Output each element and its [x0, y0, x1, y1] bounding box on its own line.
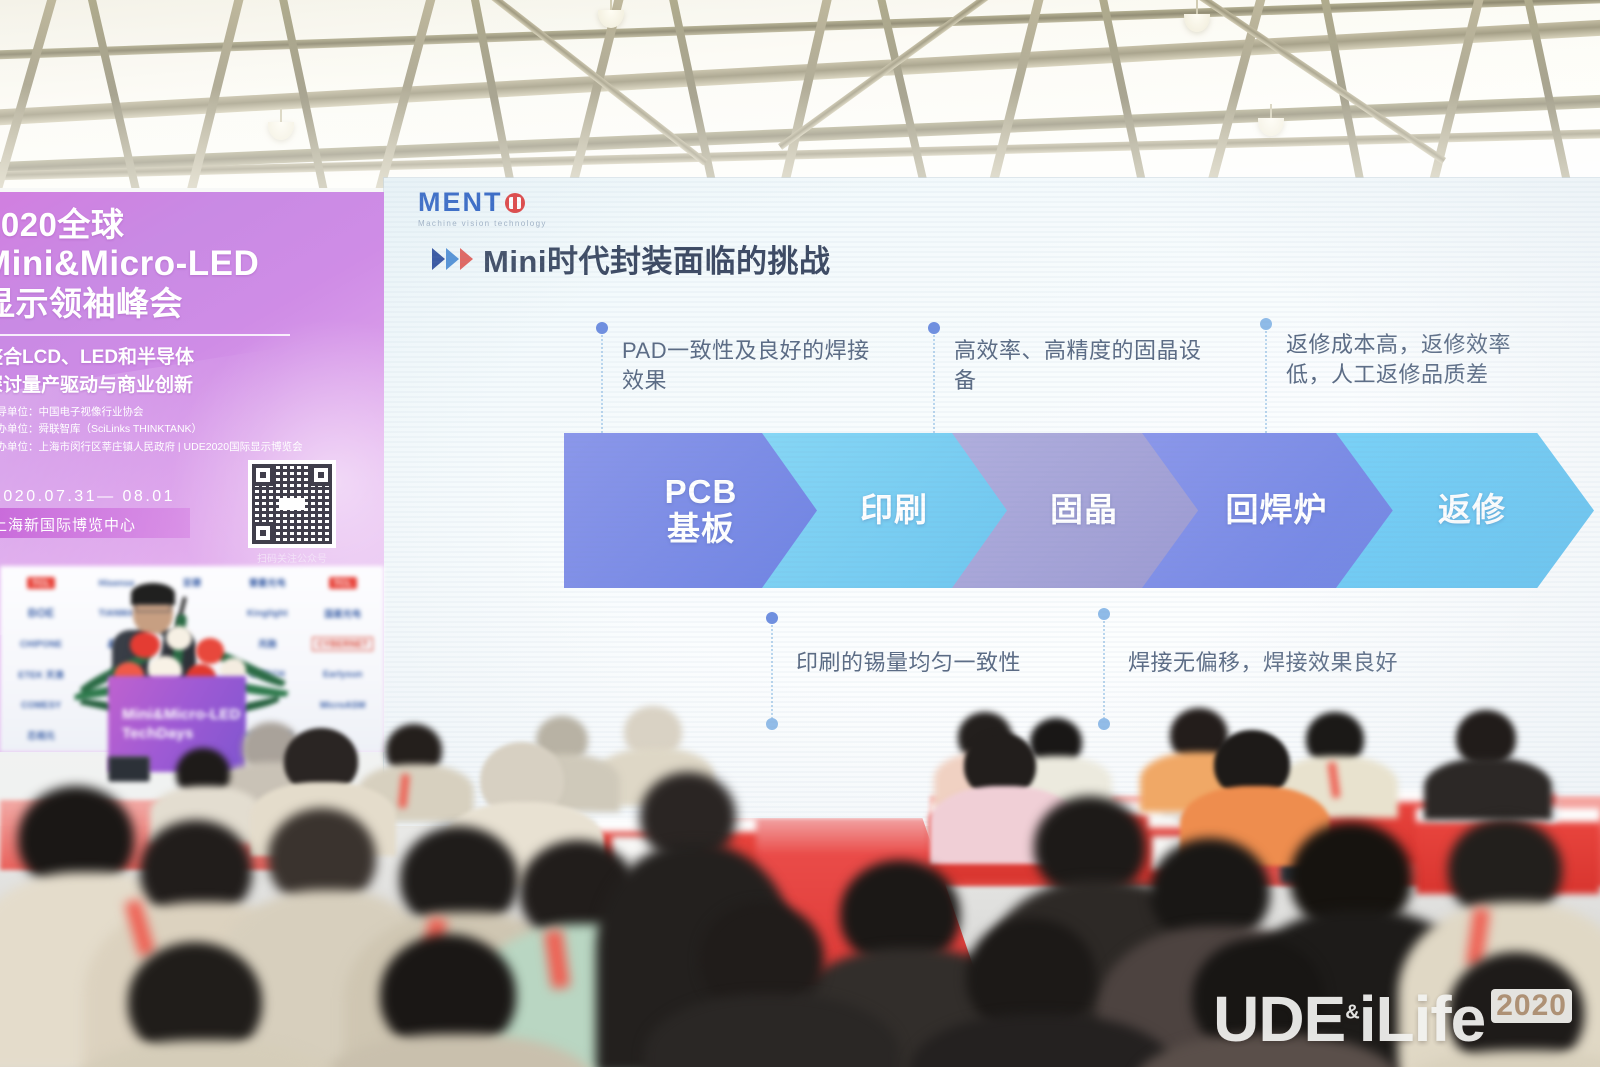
sponsor-logo: ETEK 天准 [4, 660, 78, 690]
banner-organizers: 指导单位：中国电子视像行业协会 主办单位：舜联智库（SciLinks THINK… [0, 404, 384, 456]
sponsor-logo: TCL [306, 568, 380, 598]
watermark-ampersand: & [1345, 1002, 1358, 1024]
mento-logo: MENT Machine vision technology [418, 187, 547, 228]
flow-step-label: 回焊炉 [1212, 492, 1328, 529]
watermark-year: 2020 [1491, 989, 1572, 1023]
pendant-lamp [268, 122, 294, 140]
callout-text: PAD一致性及良好的焊接效果 [622, 336, 890, 395]
chevron-group [432, 248, 473, 270]
sponsor-logo: 雷曼光电 [230, 568, 304, 598]
callout-text: 高效率、高精度的固晶设备 [954, 336, 1222, 395]
ceiling-strut [1098, 0, 1151, 200]
connector-dot [766, 612, 778, 624]
callout-top-1: PAD一致性及良好的焊接效果 [622, 336, 890, 395]
connector-dot [928, 322, 940, 334]
chevron-right-icon [432, 248, 445, 270]
flow-step-label: PCB [665, 473, 738, 510]
banner-title-line3: 显示领袖峰会 [0, 285, 384, 323]
ceiling-strut [776, 0, 833, 200]
sponsor-logo: 国星光电 [306, 599, 380, 629]
ceiling-strut [184, 0, 245, 200]
ceiling-strut [564, 0, 625, 200]
exhibition-hall-ceiling [0, 0, 1600, 200]
organizer-line: 主办单位：舜联智库（SciLinks THINKTANK） [0, 421, 384, 438]
speaker-hair [131, 583, 175, 605]
process-flow-diagram: PCB 基板 印刷 固晶 回焊炉 返修 [564, 433, 1544, 588]
callout-text: 返修成本高，返修效率低，人工返修品质差 [1286, 330, 1554, 389]
ceiling-strut [1202, 0, 1266, 200]
banner-venue: 上海新国际博览中心 [0, 514, 222, 535]
ceiling-strut [1320, 0, 1369, 200]
organizer-line: 指导单位：中国电子视像行业协会 [0, 404, 384, 421]
banner-title-line2: Mini&Micro-LED [0, 244, 384, 285]
mento-wordmark: MENT [418, 187, 547, 218]
qr-caption-line1: 扫码关注公众号 [236, 552, 348, 567]
banner-divider [0, 334, 290, 336]
pendant-lamp [1184, 14, 1210, 32]
banner-title: 2020全球 Mini&Micro-LED 显示领袖峰会 [0, 206, 384, 323]
ceiling-strut [278, 0, 331, 200]
banner-subtitle-line2: 深讨量产驱动与商业创新 [0, 372, 384, 400]
ceiling-diagonal [778, 0, 1122, 150]
ceiling-strut [372, 0, 436, 200]
connector-dot [1098, 608, 1110, 620]
mento-circle-o-icon [505, 193, 525, 213]
callout-text: 焊接无偏移，焊接效果良好 [1128, 648, 1400, 678]
watermark-brand: UDE&iLife [1213, 991, 1485, 1049]
flow-step-label-2: 基板 [667, 510, 735, 547]
ceiling-diagonal [1094, 0, 1446, 164]
callout-text: 印刷的锡量均匀一致性 [796, 648, 1058, 678]
sponsor-logo: CHIPONE [4, 629, 78, 659]
chevron-right-icon [460, 248, 473, 270]
banner-subtitle-line1: 整合LCD、LED和半导体 [0, 344, 384, 372]
ceiling-strut [1424, 0, 1485, 200]
connector-dot [596, 322, 608, 334]
sponsor-logo: CYBERNET [306, 629, 380, 659]
ceiling-beam [0, 17, 1600, 128]
ceiling-strut [86, 0, 141, 198]
audience-shoulders [1424, 758, 1552, 820]
watermark: UDE&iLife 2020 [1213, 989, 1572, 1049]
banner-subtitle: 整合LCD、LED和半导体 深讨量产驱动与商业创新 [0, 344, 384, 399]
banner-title-line1: 2020全球 [0, 206, 384, 244]
ceiling-strut [668, 0, 721, 200]
pendant-lamp [598, 10, 624, 28]
sponsor-logo: TCL [4, 568, 78, 598]
slide-heading-text: Mini时代封装面临的挑战 [483, 236, 830, 281]
flow-step-label: 固晶 [1036, 492, 1118, 529]
qr-code-icon [248, 460, 336, 548]
mento-tagline: Machine vision technology [418, 219, 547, 228]
sponsor-logo: BOE [4, 599, 78, 629]
chevron-right-icon [446, 248, 459, 270]
ceiling-beam [0, 0, 1600, 61]
flow-step-label: 返修 [1424, 492, 1506, 529]
slide-heading: Mini时代封装面临的挑战 [432, 236, 830, 281]
ceiling-strut [984, 0, 1045, 200]
callout-bottom-2: 焊接无偏移，焊接效果良好 [1128, 648, 1400, 678]
smartphone [108, 756, 150, 782]
mento-word-text: MENT [418, 187, 503, 218]
conference-photo: MENT Machine vision technology Mini时代封装面… [0, 0, 1600, 1067]
sponsor-logo: Earlysun [306, 660, 380, 690]
ceiling-strut [470, 0, 519, 200]
ceiling-beam [0, 128, 1600, 181]
callout-top-3: 返修成本高，返修效率低，人工返修品质差 [1286, 330, 1554, 389]
ceiling-strut [0, 0, 58, 197]
organizer-line: 协办单位：上海市闵行区莘庄镇人民政府 | UDE2020国际显示博览会 [0, 439, 384, 456]
ceiling-beam [0, 92, 1600, 176]
flow-step-label: 印刷 [846, 492, 928, 529]
callout-bottom-1: 印刷的锡量均匀一致性 [796, 648, 1058, 678]
ceiling-diagonal [372, 0, 707, 166]
pendant-lamp [1258, 118, 1284, 136]
connector-dot [1260, 318, 1272, 330]
ceiling-strut [876, 0, 932, 200]
callout-top-2: 高效率、高精度的固晶设备 [954, 336, 1222, 395]
ceiling-strut [1523, 0, 1576, 200]
